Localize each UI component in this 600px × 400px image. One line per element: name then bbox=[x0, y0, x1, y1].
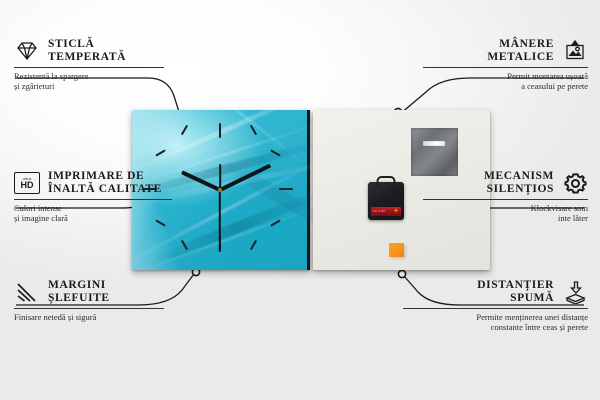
feature-description: Culori intense și imagine clară bbox=[14, 203, 172, 223]
divider bbox=[14, 308, 164, 309]
foam-spacer-arrow-icon bbox=[562, 280, 588, 304]
battery-label: AA 1.5V bbox=[373, 209, 385, 213]
connector-dot-foam bbox=[398, 270, 405, 277]
feature-title: STICLĂ TEMPERATĂ bbox=[48, 38, 126, 64]
clock-tick bbox=[249, 240, 256, 251]
feature-description: Klockvisare som inte låter bbox=[423, 203, 588, 223]
divider bbox=[423, 199, 588, 200]
hanger-slot bbox=[423, 141, 445, 146]
clock-second-hand-tail bbox=[219, 164, 221, 190]
feature-polished-edges: MARGINI ȘLEFUITE Finisare netedă și sigu… bbox=[14, 279, 164, 322]
feature-title: DISTANȚIER SPUMĂ bbox=[477, 279, 554, 305]
feature-title: MÂNERE METALICE bbox=[487, 38, 554, 64]
clock-mechanism: AA 1.5V + bbox=[368, 182, 404, 220]
feature-metal-handles: MÂNERE METALICE Permit montarea ușoară a… bbox=[423, 38, 588, 91]
feature-foam-spacer: DISTANȚIER SPUMĂ Permite menținerea unei… bbox=[403, 279, 588, 332]
diamond-icon bbox=[14, 39, 40, 63]
clock-center-dot bbox=[218, 188, 222, 192]
polished-edges-icon bbox=[14, 280, 40, 304]
product-infographic: AA 1.5V + STICLĂ TEMPERATĂ Rezistentă la… bbox=[0, 0, 600, 400]
clock-tick bbox=[181, 125, 188, 136]
ultra-hd-icon-large-text: HD bbox=[21, 181, 34, 190]
divider bbox=[403, 308, 588, 309]
feature-title: MARGINI ȘLEFUITE bbox=[48, 279, 110, 305]
feature-glass: STICLĂ TEMPERATĂ Rezistentă la spargere … bbox=[14, 38, 164, 91]
ultra-hd-icon: ultra HD bbox=[14, 171, 40, 195]
feature-title: MECANISM SILENȚIOS bbox=[484, 170, 554, 196]
divider bbox=[14, 67, 164, 68]
feature-description: Rezistentă la spargere și zgârieturi bbox=[14, 71, 164, 91]
feature-description: Finisare netedă și sigură bbox=[14, 312, 164, 322]
wall-hanging-picture-icon bbox=[562, 39, 588, 63]
battery-plus-terminal: + bbox=[393, 208, 399, 214]
foam-spacer bbox=[389, 243, 404, 257]
feature-print-quality: ultra HD IMPRIMARE DE ÎNALTĂ CALITATE Cu… bbox=[14, 170, 172, 223]
mechanism-hanger-loop bbox=[377, 176, 396, 187]
battery: AA 1.5V + bbox=[371, 207, 401, 216]
feature-description: Permit montarea ușoară a ceasului pe per… bbox=[423, 71, 588, 91]
feature-title: IMPRIMARE DE ÎNALTĂ CALITATE bbox=[48, 170, 162, 196]
feature-description: Permite menținerea unei distanțe constan… bbox=[403, 312, 588, 332]
divider bbox=[14, 199, 172, 200]
gear-icon bbox=[562, 171, 588, 195]
metal-hanger-plate bbox=[411, 128, 458, 176]
clock-tick bbox=[219, 123, 221, 138]
clock-second-hand bbox=[219, 190, 221, 252]
feature-silent-mechanism: MECANISM SILENȚIOS Klockvisare som inte … bbox=[423, 170, 588, 223]
divider bbox=[423, 67, 588, 68]
